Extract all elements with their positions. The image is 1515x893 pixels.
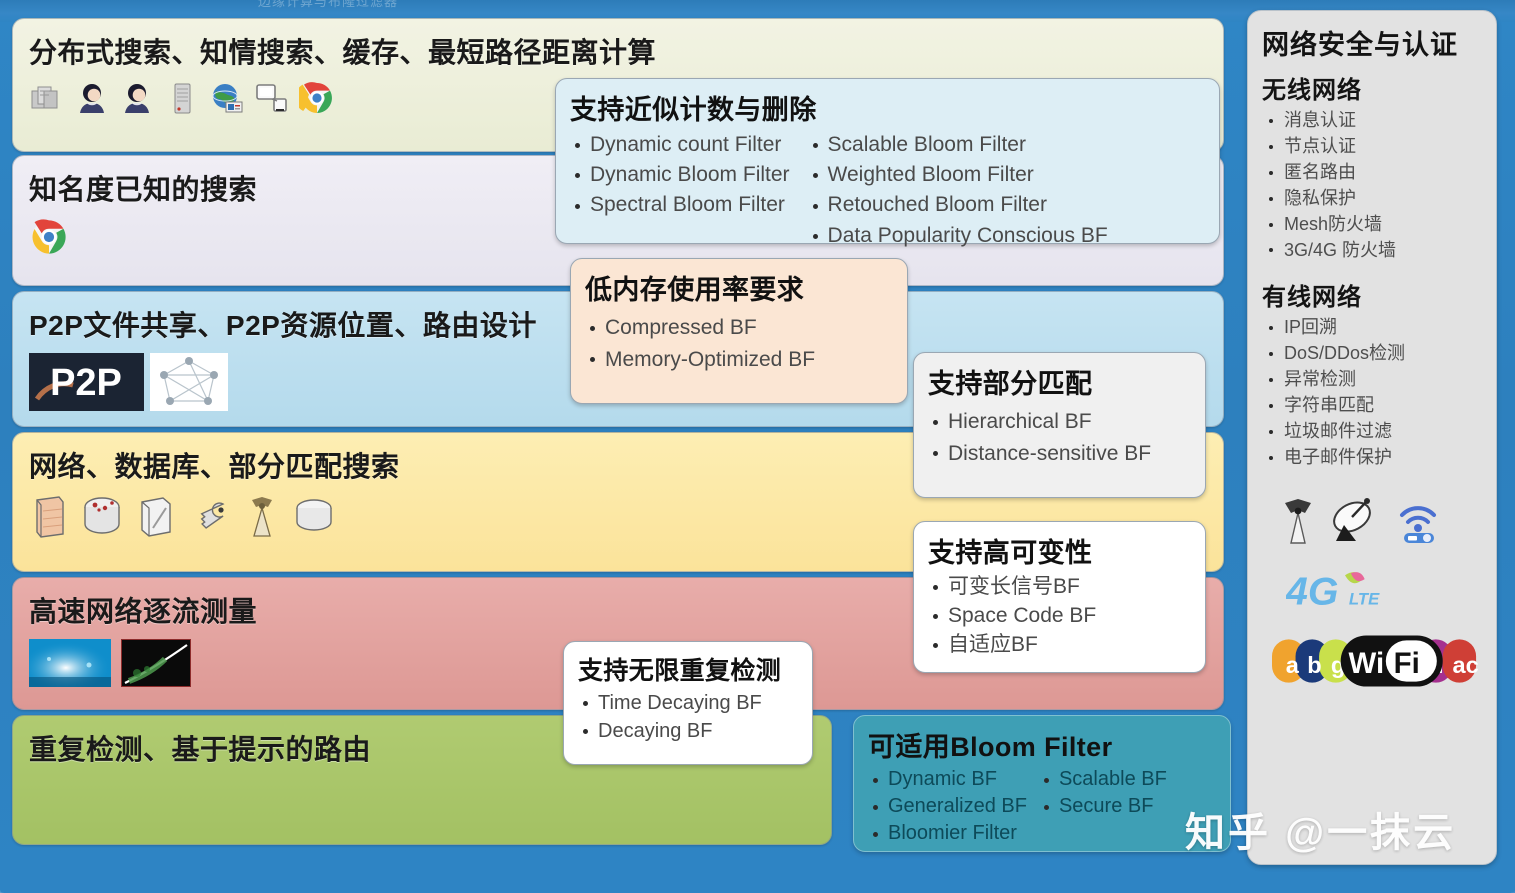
list-item: Scalable Bloom Filter <box>808 130 1108 160</box>
sidebar-icon-row <box>1262 497 1482 545</box>
network-computers-icon <box>254 80 290 116</box>
sidebar-section-heading-wired: 有线网络 <box>1262 277 1482 312</box>
sidebar-title: 网络安全与认证 <box>1262 23 1482 62</box>
list-item: DoS/DDos检测 <box>1262 341 1482 367</box>
list-item: Hierarchical BF <box>928 406 1191 438</box>
card-list: 可变长信号BF Space Code BF 自适应BF <box>928 573 1191 660</box>
firewall-brick-icon <box>29 494 69 538</box>
list-item: 电子邮件保护 <box>1262 445 1482 471</box>
card-partial-match[interactable]: 支持部分匹配 Hierarchical BF Distance-sensitiv… <box>913 352 1206 498</box>
list-item: 字符串匹配 <box>1262 393 1482 419</box>
card-title: 支持近似计数与删除 <box>570 88 1205 127</box>
globe-network-icon <box>209 80 245 116</box>
list-item: Weighted Bloom Filter <box>808 160 1108 190</box>
list-item: 垃圾邮件过滤 <box>1262 419 1482 445</box>
list-item: Memory-Optimized BF <box>585 344 893 376</box>
server-tower-icon <box>164 80 200 116</box>
list-item: Retouched Bloom Filter <box>808 190 1108 220</box>
sidebar-list-wired: IP回溯 DoS/DDos检测 异常检测 字符串匹配 垃圾邮件过滤 电子邮件保护 <box>1262 315 1482 470</box>
card-title: 支持无限重复检测 <box>578 651 798 687</box>
wifi-abgnac-logo-icon: a b g n ac Wi Fi <box>1262 635 1482 687</box>
key-icon <box>187 498 231 538</box>
list-item: 匿名路由 <box>1262 160 1482 186</box>
list-item: Time Decaying BF <box>578 689 798 717</box>
list-item: IP回溯 <box>1262 315 1482 341</box>
antenna-tower-icon <box>243 494 281 538</box>
card-approx-count-delete[interactable]: 支持近似计数与删除 Dynamic count Filter Dynamic B… <box>555 78 1220 244</box>
list-item: 消息认证 <box>1262 108 1482 134</box>
list-item: 3G/4G 防火墙 <box>1262 238 1482 264</box>
p2p-logo-icon: P2P <box>29 353 144 411</box>
list-item: Data Popularity Conscious BF <box>808 221 1108 251</box>
slide-canvas: 分布式搜索、知情搜索、缓存、最短路径距离计算 <box>0 0 1515 893</box>
database-drum-icon <box>81 494 123 538</box>
sidebar-section-heading-wireless: 无线网络 <box>1262 70 1482 105</box>
list-item: Mesh防火墙 <box>1262 212 1482 238</box>
svg-text:Wi: Wi <box>1349 647 1385 680</box>
list-item: 异常检测 <box>1262 367 1482 393</box>
card-list-right: Scalable BF Secure BF <box>1039 766 1167 848</box>
list-item: Dynamic BF <box>868 766 1027 793</box>
svg-text:Fi: Fi <box>1394 647 1420 680</box>
list-item: Space Code BF <box>928 602 1191 631</box>
card-low-memory[interactable]: 低内存使用率要求 Compressed BF Memory-Optimized … <box>570 258 908 404</box>
chrome-icon <box>299 80 335 116</box>
list-item: Dynamic count Filter <box>570 130 790 160</box>
card-title: 可适用Bloom Filter <box>868 725 1216 764</box>
card-title: 支持部分匹配 <box>928 362 1191 401</box>
fiber-optic-blue-icon <box>29 639 111 687</box>
list-item: Compressed BF <box>585 312 893 344</box>
list-item: Secure BF <box>1039 793 1167 820</box>
card-high-variability[interactable]: 支持高可变性 可变长信号BF Space Code BF 自适应BF <box>913 521 1206 673</box>
book-index-icon <box>135 494 175 538</box>
fiber-optic-dark-icon <box>121 639 191 687</box>
list-item: Generalized BF <box>868 793 1027 820</box>
satellite-dish-icon <box>1326 497 1382 545</box>
chrome-icon <box>29 217 69 257</box>
svg-text:P2P: P2P <box>50 362 122 404</box>
watermark: 知乎 @一抹云 <box>1185 800 1456 858</box>
band-title: 分布式搜索、知情搜索、缓存、最短路径距离计算 <box>29 31 1207 71</box>
antenna-tower-icon <box>1280 497 1316 545</box>
svg-text:ac: ac <box>1453 652 1479 678</box>
svg-text:b: b <box>1307 652 1321 678</box>
list-item: 隐私保护 <box>1262 186 1482 212</box>
list-item: 节点认证 <box>1262 134 1482 160</box>
card-list: Time Decaying BF Decaying BF <box>578 689 798 745</box>
list-item: Spectral Bloom Filter <box>570 190 790 220</box>
peer-graph-icon <box>150 353 228 411</box>
card-list: Hierarchical BF Distance-sensitive BF <box>928 406 1191 469</box>
list-item: Decaying BF <box>578 717 798 745</box>
sidebar-list-wireless: 消息认证 节点认证 匿名路由 隐私保护 Mesh防火墙 3G/4G 防火墙 <box>1262 108 1482 263</box>
user-profile-icon <box>119 80 155 116</box>
card-title: 支持高可变性 <box>928 531 1191 570</box>
card-universal-bf[interactable]: 可适用Bloom Filter Dynamic BF Generalized B… <box>853 715 1231 852</box>
card-list-right: Scalable Bloom Filter Weighted Bloom Fil… <box>808 130 1108 251</box>
list-item: Scalable BF <box>1039 766 1167 793</box>
card-title: 低内存使用率要求 <box>585 268 893 307</box>
user-profile-icon <box>74 80 110 116</box>
svg-text:LTE: LTE <box>1349 590 1380 609</box>
sidebar-network-security[interactable]: 网络安全与认证 无线网络 消息认证 节点认证 匿名路由 隐私保护 Mesh防火墙… <box>1247 10 1497 865</box>
card-list-left: Dynamic count Filter Dynamic Bloom Filte… <box>570 130 790 251</box>
card-list: Compressed BF Memory-Optimized BF <box>585 312 893 375</box>
svg-text:4G: 4G <box>1286 570 1338 613</box>
list-item: 自适应BF <box>928 631 1191 660</box>
list-item: Bloomier Filter <box>868 820 1027 847</box>
servers-icon <box>29 80 65 116</box>
list-item: Dynamic Bloom Filter <box>570 160 790 190</box>
card-list-left: Dynamic BF Generalized BF Bloomier Filte… <box>868 766 1027 848</box>
list-item: 可变长信号BF <box>928 573 1191 602</box>
data-cylinder-icon <box>293 494 335 538</box>
wifi-router-icon <box>1392 497 1444 545</box>
list-item: Distance-sensitive BF <box>928 438 1191 470</box>
card-unlimited-repeat[interactable]: 支持无限重复检测 Time Decaying BF Decaying BF <box>563 641 813 765</box>
svg-text:a: a <box>1286 652 1300 678</box>
4g-lte-logo-icon: 4G LTE <box>1262 567 1482 613</box>
